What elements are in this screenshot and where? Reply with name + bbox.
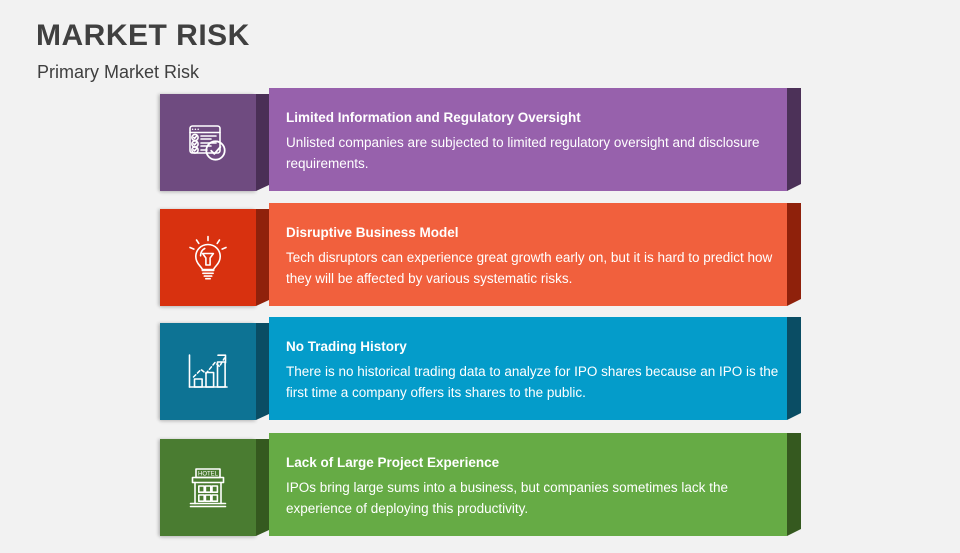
hotel-building-icon: HOTEL	[160, 439, 256, 536]
checklist-clipboard-check-icon	[160, 94, 256, 191]
band-right-fold	[787, 433, 801, 536]
band-fold-shadow	[256, 94, 269, 191]
page-title: MARKET RISK	[36, 18, 250, 54]
risk-band[interactable]: No Trading HistoryThere is no historical…	[0, 317, 960, 437]
band-icon-panel	[160, 94, 256, 191]
slide-canvas: MARKET RISK Primary Market Risk Limited …	[0, 0, 960, 540]
band-right-fold	[787, 317, 801, 420]
lightbulb-icon	[160, 209, 256, 306]
band-title: No Trading History	[286, 338, 407, 355]
band-description: IPOs bring large sums into a business, b…	[286, 477, 781, 519]
band-text-panel: No Trading HistoryThere is no historical…	[269, 317, 787, 420]
risk-band[interactable]: HOTELLack of Large Project ExperienceIPO…	[0, 433, 960, 553]
bar-chart-growth-icon	[160, 323, 256, 420]
risk-band[interactable]: Limited Information and Regulatory Overs…	[0, 88, 960, 208]
band-title: Lack of Large Project Experience	[286, 454, 499, 471]
band-text-panel: Lack of Large Project ExperienceIPOs bri…	[269, 433, 787, 536]
band-icon-panel	[160, 209, 256, 306]
band-fold-shadow	[256, 323, 269, 420]
band-fold-shadow	[256, 439, 269, 536]
page-subtitle: Primary Market Risk	[37, 60, 199, 84]
band-description: There is no historical trading data to a…	[286, 361, 781, 403]
band-text-panel: Limited Information and Regulatory Overs…	[269, 88, 787, 191]
band-icon-panel: HOTEL	[160, 439, 256, 536]
band-title: Disruptive Business Model	[286, 224, 459, 241]
band-description: Tech disruptors can experience great gro…	[286, 247, 781, 289]
band-fold-shadow	[256, 209, 269, 306]
band-description: Unlisted companies are subjected to limi…	[286, 132, 781, 174]
band-icon-panel	[160, 323, 256, 420]
band-right-fold	[787, 203, 801, 306]
band-title: Limited Information and Regulatory Overs…	[286, 109, 581, 126]
band-text-panel: Disruptive Business ModelTech disruptors…	[269, 203, 787, 306]
band-right-fold	[787, 88, 801, 191]
risk-band[interactable]: Disruptive Business ModelTech disruptors…	[0, 203, 960, 323]
